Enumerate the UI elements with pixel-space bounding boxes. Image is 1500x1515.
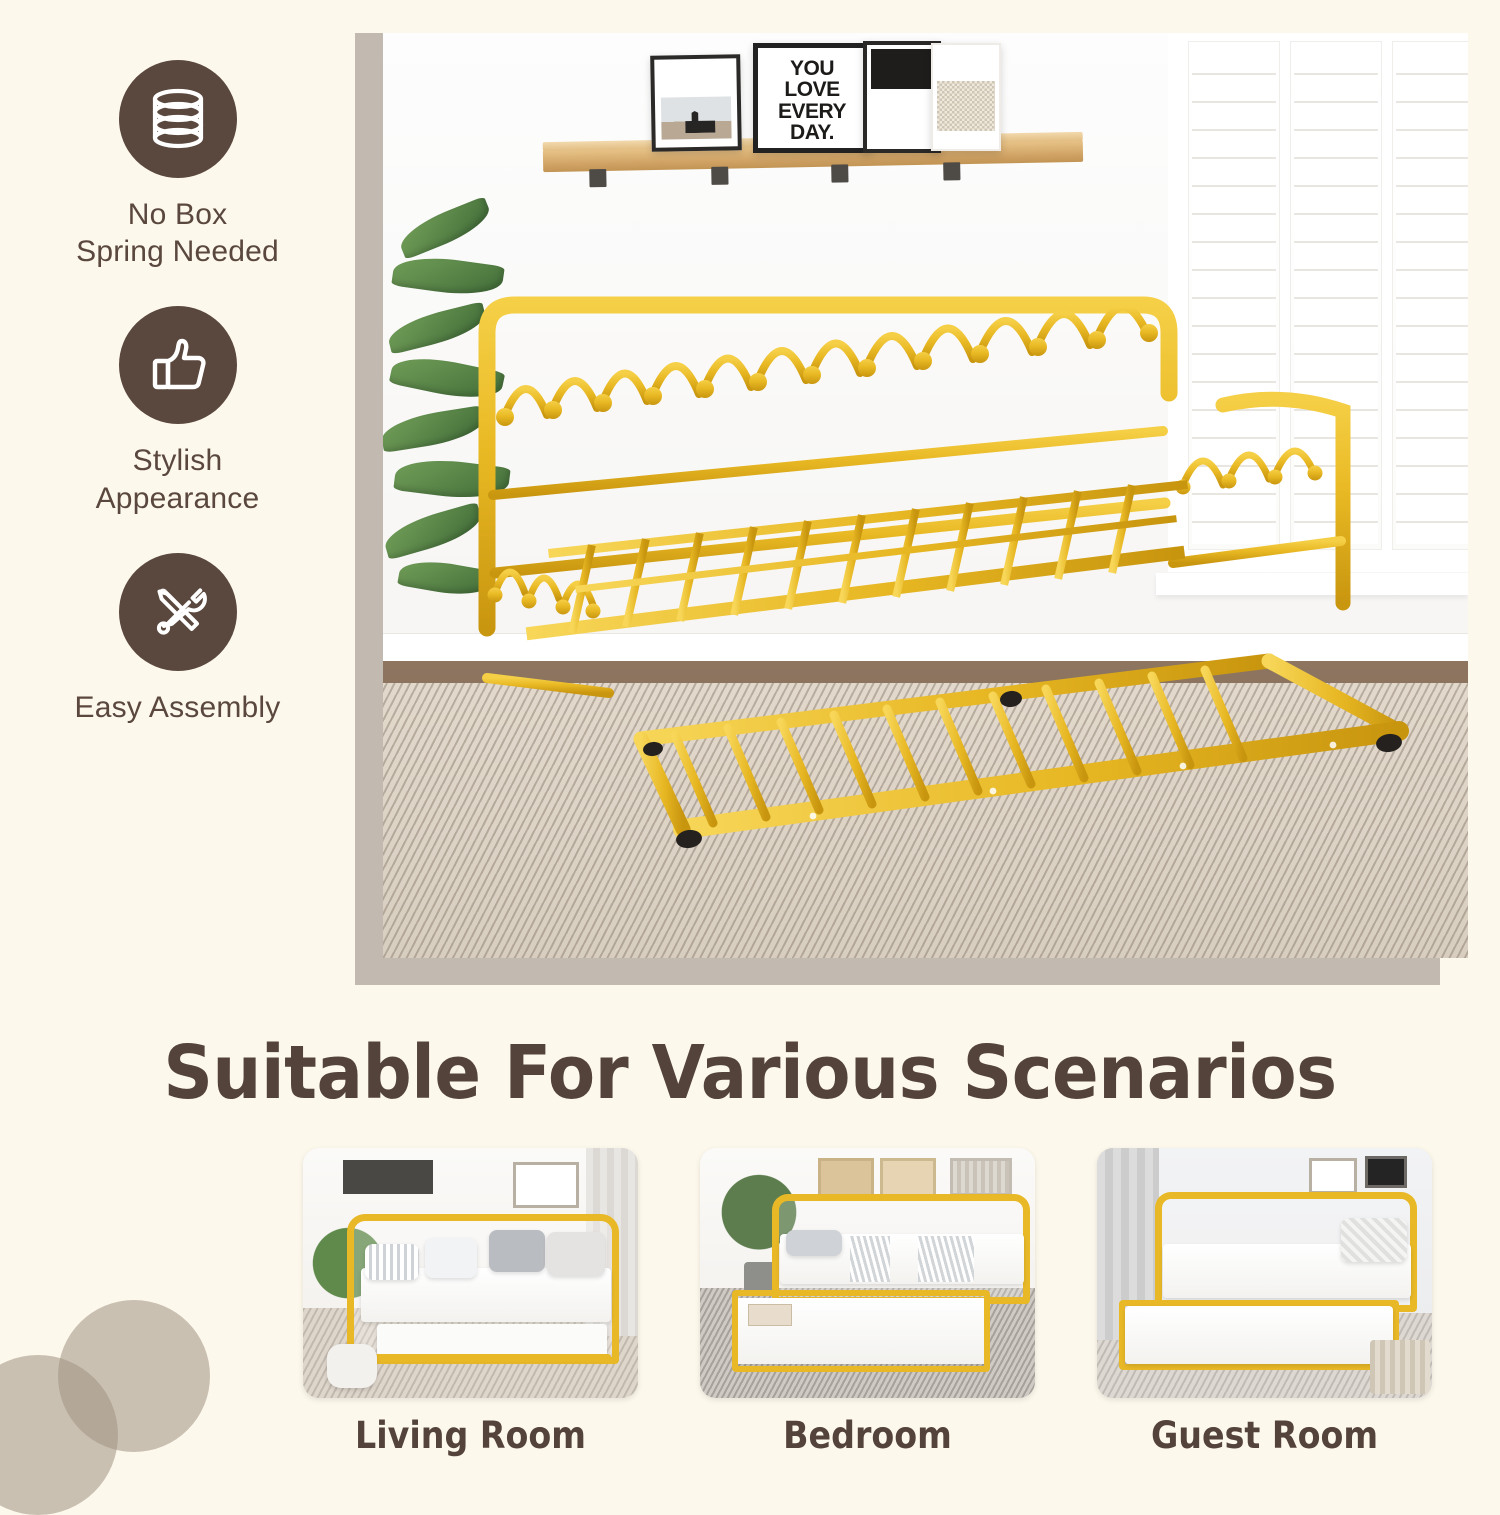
feature-item-no-box-spring: No Box Spring Needed: [0, 60, 355, 270]
scenario-label: Bedroom: [717, 1414, 1019, 1457]
daybed-living-room-thumbnail[interactable]: [303, 1148, 638, 1398]
scenario-label: Guest Room: [1114, 1414, 1416, 1457]
daybed-frame: [383, 33, 1468, 958]
scenario-guest-room[interactable]: Guest Room: [1097, 1148, 1432, 1457]
hero-product-photo: YOU LOVE EVERY DAY.: [383, 33, 1468, 958]
spring-coil-icon: [119, 60, 237, 178]
daybed-guest-room-thumbnail[interactable]: [1097, 1148, 1432, 1398]
feature-item-easy-assembly: Easy Assembly: [0, 553, 355, 726]
hero-image-block: YOU LOVE EVERY DAY.: [355, 33, 1468, 985]
feature-item-stylish-appearance: Stylish Appearance: [0, 306, 355, 516]
thumbs-up-icon: [119, 306, 237, 424]
feature-label: Easy Assembly: [0, 689, 355, 726]
feature-label: No Box Spring Needed: [0, 196, 355, 270]
page-title: Suitable For Various Scenarios: [53, 1030, 1448, 1116]
daybed-bedroom-thumbnail[interactable]: [700, 1148, 1035, 1398]
feature-list: No Box Spring Needed Stylish Appearance: [0, 60, 355, 762]
wrench-screwdriver-icon: [119, 553, 237, 671]
scenario-living-room[interactable]: Living Room: [303, 1148, 638, 1457]
scenario-gallery: Living Room Bedroom: [0, 1148, 1500, 1478]
scenario-label: Living Room: [320, 1414, 622, 1457]
feature-label: Stylish Appearance: [0, 442, 355, 516]
scenario-bedroom[interactable]: Bedroom: [700, 1148, 1035, 1457]
